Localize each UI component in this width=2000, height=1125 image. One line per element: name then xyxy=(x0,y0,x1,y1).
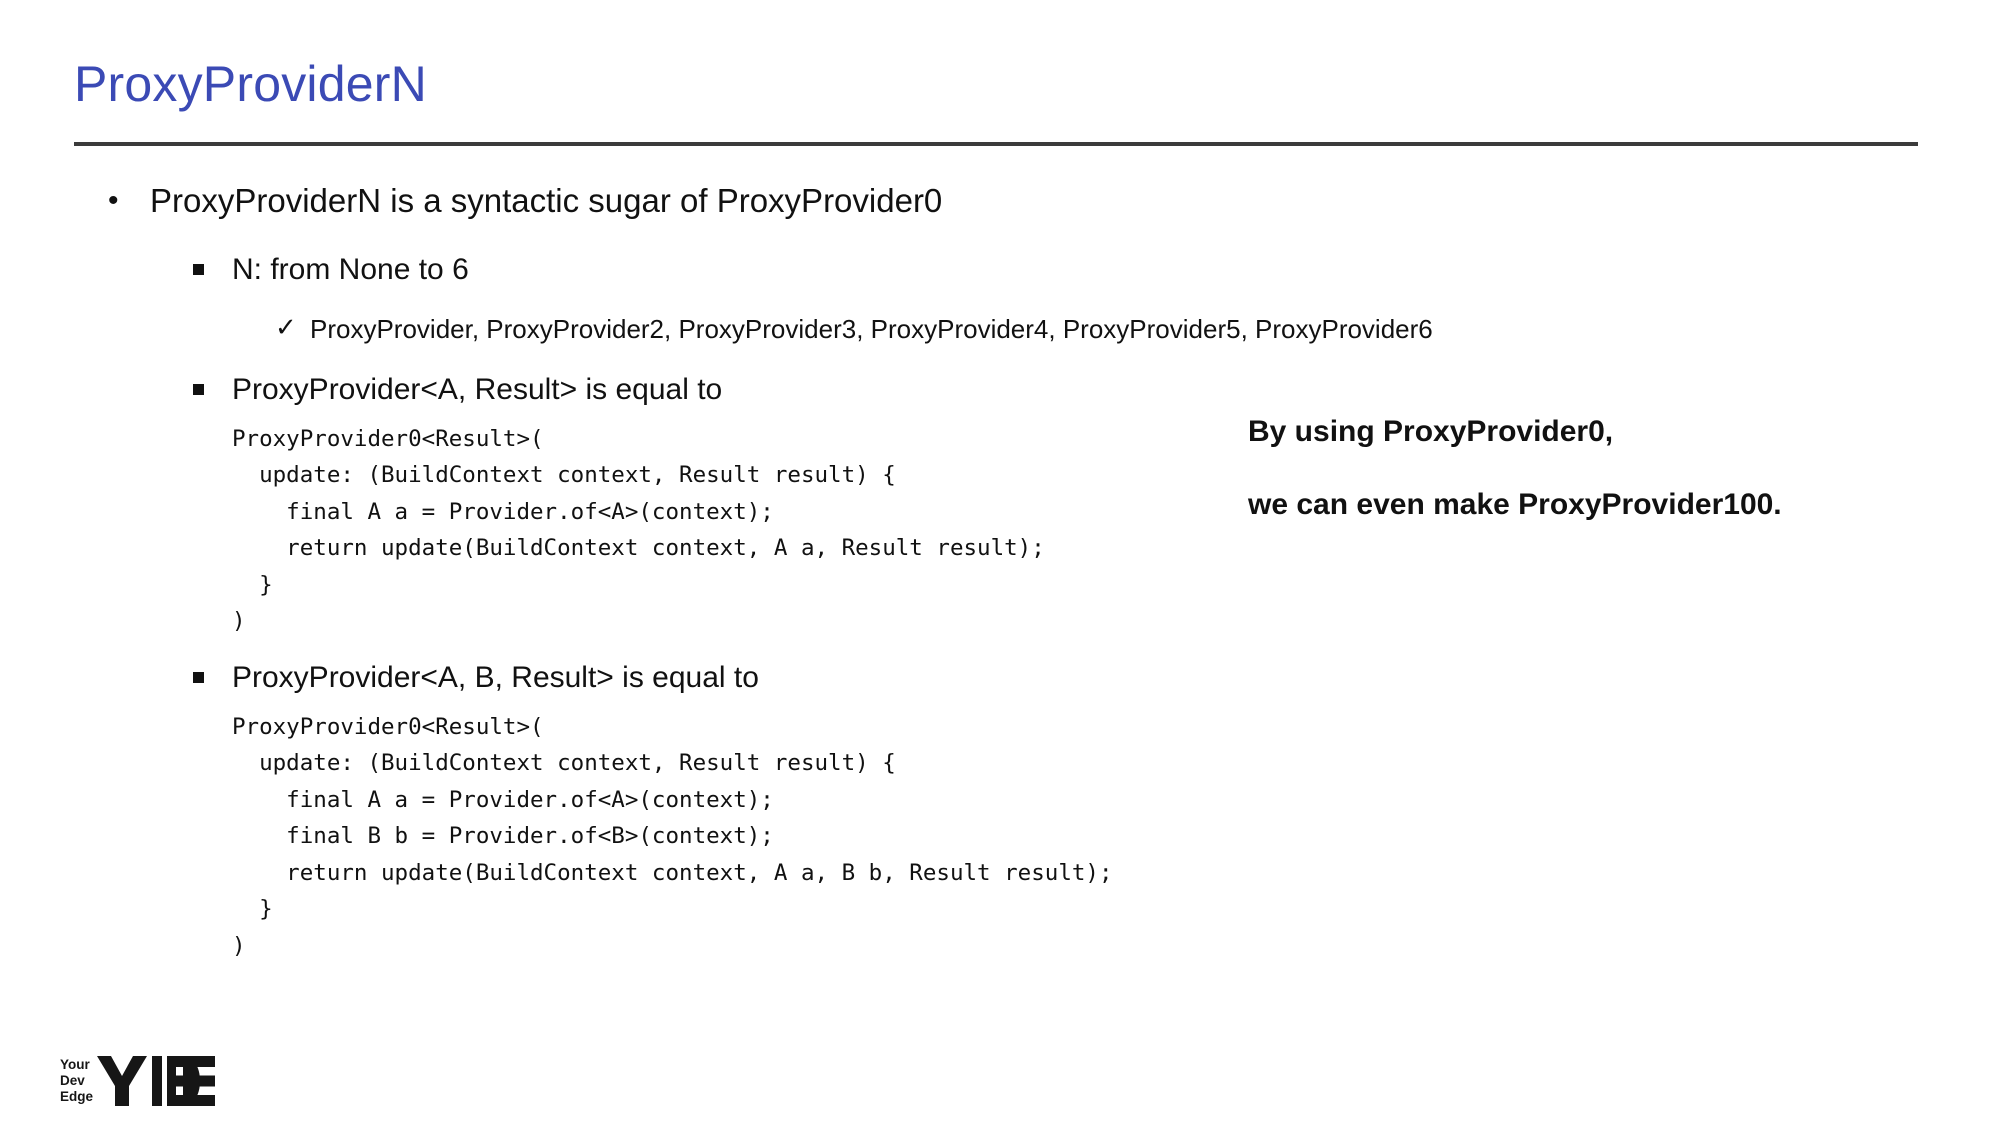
check-icon: ✓ xyxy=(275,311,297,345)
round-bullet-icon: • xyxy=(108,182,119,220)
bullet-level2-label: ProxyProvider<A, Result> is equal to xyxy=(232,373,722,406)
yide-logo-icon xyxy=(97,1056,215,1106)
bullet-level2-one-type: ProxyProvider<A, Result> is equal to xyxy=(0,371,2000,409)
spacer xyxy=(0,345,2000,371)
bullet-level2-two-types: ProxyProvider<A, B, Result> is equal to xyxy=(0,659,2000,697)
square-bullet-icon xyxy=(193,384,204,395)
spacer xyxy=(0,697,2000,709)
bullet-level2-label: ProxyProvider<A, B, Result> is equal to xyxy=(232,661,759,694)
callout-line-1: By using ProxyProvider0, xyxy=(1248,414,1948,451)
logo-word-your: Your xyxy=(60,1057,93,1073)
code-snippet-two-types: ProxyProvider0<Result>( update: (BuildCo… xyxy=(232,709,2000,964)
square-bullet-icon xyxy=(193,672,204,683)
square-bullet-icon xyxy=(193,264,204,275)
slide: ProxyProviderN • ProxyProviderN is a syn… xyxy=(0,0,2000,1125)
bullet-level1-label: ProxyProviderN is a syntactic sugar of P… xyxy=(150,182,942,219)
bullet-level3-provider-list: ✓ ProxyProvider, ProxyProvider2, ProxyPr… xyxy=(0,313,2000,346)
callout-line-2: we can even make ProxyProvider100. xyxy=(1248,487,1948,524)
logo-word-dev: Dev xyxy=(60,1073,93,1089)
bullet-level1: • ProxyProviderN is a syntactic sugar of… xyxy=(0,180,2000,221)
logo-word-edge: Edge xyxy=(60,1089,93,1105)
brand-logo: Your Dev Edge xyxy=(60,1055,215,1107)
page-title: ProxyProviderN xyxy=(74,58,427,111)
bullet-level2-label: N: from None to 6 xyxy=(232,253,469,286)
spacer xyxy=(0,221,2000,251)
bullet-level2-n-range: N: from None to 6 xyxy=(0,251,2000,289)
logo-tagline: Your Dev Edge xyxy=(60,1057,93,1105)
slide-body: • ProxyProviderN is a syntactic sugar of… xyxy=(0,180,2000,964)
bullet-level3-label: ProxyProvider, ProxyProvider2, ProxyProv… xyxy=(310,314,1433,344)
spacer xyxy=(0,289,2000,313)
callout: By using ProxyProvider0, we can even mak… xyxy=(1248,414,1948,523)
title-divider xyxy=(74,142,1918,146)
spacer xyxy=(0,639,2000,659)
